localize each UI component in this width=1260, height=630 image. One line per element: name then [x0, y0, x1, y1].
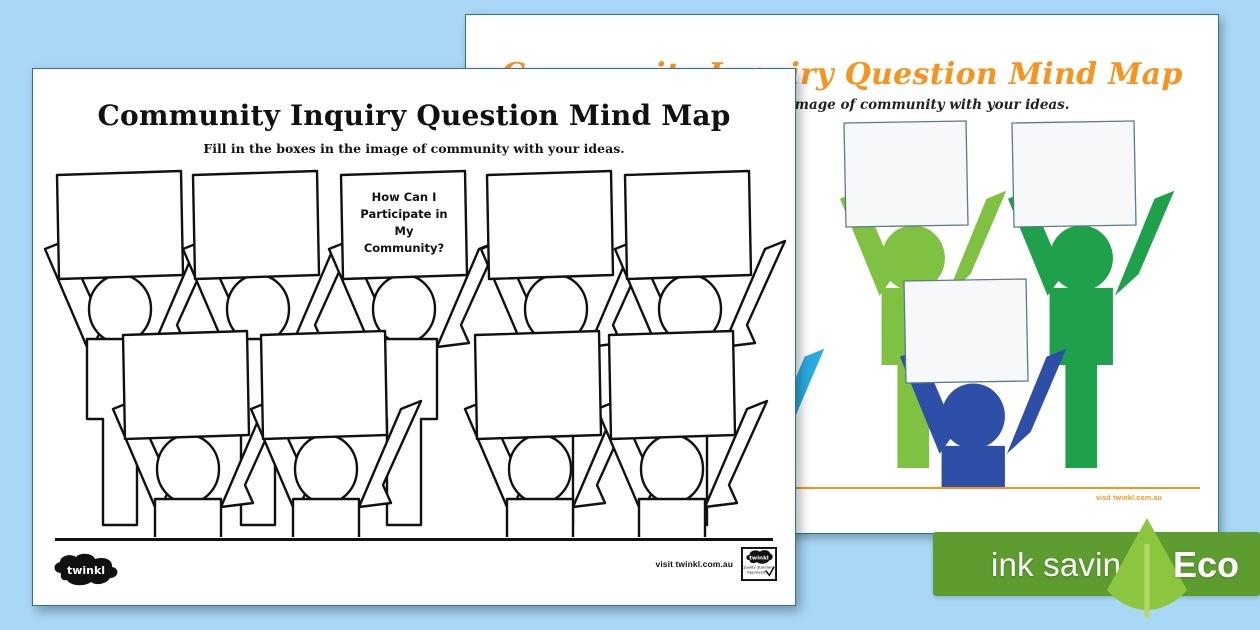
ink-saving-eco-badge: ink saving Eco	[933, 532, 1260, 596]
blank-sign-6[interactable]	[261, 331, 387, 439]
prompt-line-2: Participate in	[360, 207, 447, 221]
blank-sign-2[interactable]	[193, 171, 319, 279]
eco-badge-word: Eco	[1173, 544, 1239, 586]
back-page-visit-url[interactable]: visit twinkl.com.au	[1096, 495, 1162, 502]
community-illustration: How Can I Participate in My Community?	[33, 165, 796, 537]
blank-sign-8[interactable]	[609, 331, 735, 439]
quality-standard-badge: twinkl Quality Standard Approved	[741, 547, 777, 581]
blank-sign-3[interactable]	[487, 171, 613, 279]
page-subtitle: Fill in the boxes in the image of commun…	[33, 141, 795, 156]
twinkl-logo-text: twinkl	[67, 564, 105, 577]
badge-line-2: Approved	[747, 570, 766, 574]
blank-sign-1[interactable]	[57, 171, 183, 279]
sign-blue	[904, 279, 1028, 383]
blank-sign-5[interactable]	[123, 331, 249, 439]
twinkl-logo[interactable]: twinkl	[51, 553, 121, 587]
page-title: Community Inquiry Question Mind Map	[33, 99, 795, 132]
prompt-line-3: My	[395, 224, 414, 238]
footer-rule	[55, 538, 773, 541]
screenshot-canvas: Community Inquiry Question Mind Map Fill…	[0, 0, 1260, 630]
prompt-line-1: How Can I	[372, 190, 437, 204]
badge-line-1: Quality Standard	[742, 566, 774, 570]
blank-sign-7[interactable]	[475, 331, 601, 439]
blank-sign-4[interactable]	[625, 171, 751, 279]
prompt-line-4: Community?	[364, 241, 444, 255]
ink-saving-worksheet-page[interactable]: Community Inquiry Question Mind Map Fill…	[32, 68, 796, 606]
visit-url[interactable]: visit twinkl.com.au	[656, 559, 733, 569]
sign-dark-green	[1012, 121, 1136, 227]
sign-light-green	[844, 121, 968, 227]
badge-brand: twinkl	[749, 555, 769, 561]
